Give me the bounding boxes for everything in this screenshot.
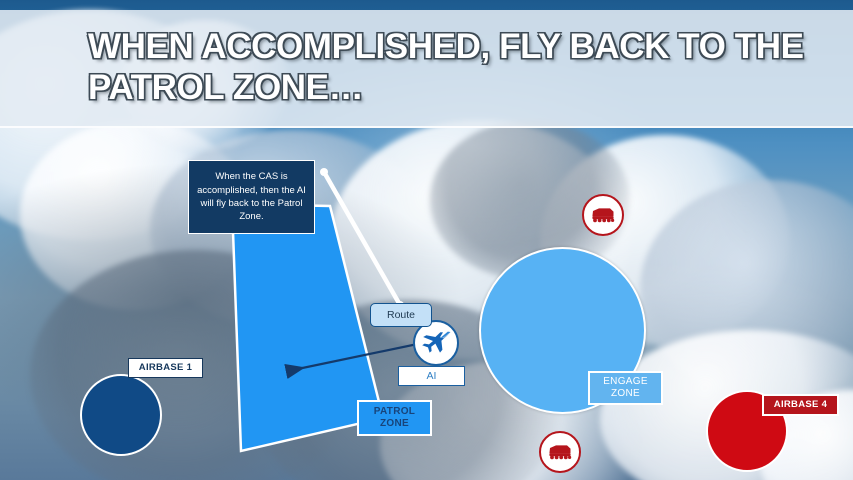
patrol-zone-label[interactable]: PATROL ZONE xyxy=(357,400,432,436)
enemy-armor-icon[interactable] xyxy=(582,194,624,236)
page-title: WHEN ACCOMPLISHED, FLY BACK TO THE PATRO… xyxy=(88,26,808,109)
ai-label[interactable]: AI xyxy=(398,366,465,386)
tank-glyph xyxy=(547,444,573,460)
slide-canvas: WHEN ACCOMPLISHED, FLY BACK TO THE PATRO… xyxy=(0,0,853,480)
tank-glyph xyxy=(590,207,616,223)
enemy-armor-icon[interactable] xyxy=(539,431,581,473)
callout-text: When the CAS is accomplished, then the A… xyxy=(195,170,308,224)
route-label[interactable]: Route xyxy=(370,303,432,327)
airbase-4-label[interactable]: AIRBASE 4 xyxy=(762,394,839,416)
engage-zone-label[interactable]: ENGAGE ZONE xyxy=(588,371,663,405)
airbase-1-marker[interactable] xyxy=(80,374,162,456)
callout-box[interactable]: When the CAS is accomplished, then the A… xyxy=(188,160,315,234)
jet-glyph xyxy=(420,330,452,356)
airbase-1-label[interactable]: AIRBASE 1 xyxy=(128,358,203,378)
